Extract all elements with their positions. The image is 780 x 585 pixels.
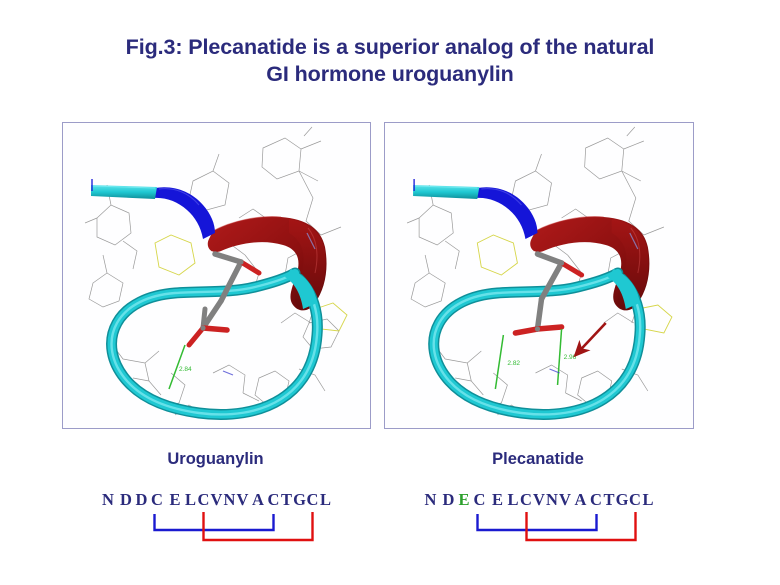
residue-D: D [117, 490, 135, 510]
sequence-letters-uroguanylin: NDDCELCVNVACTGCL [62, 490, 369, 510]
residue-L: L [319, 490, 332, 510]
sequence-block-plecanatide: NDECELCVNVACTGCL [384, 490, 692, 556]
residue-C: C [306, 490, 319, 510]
residue-G: G [616, 490, 629, 510]
structure-panel-uroguanylin: 2.84 [62, 122, 371, 429]
figure-title-line-2: GI hormone uroguanylin [0, 61, 780, 88]
residue-L: L [642, 490, 655, 510]
residue-E: E [458, 490, 471, 510]
hbond-label-2: 2.96 [564, 354, 577, 361]
molecule-render-uroguanylin: 2.84 [63, 123, 370, 428]
residue-N: N [422, 490, 440, 510]
disulfide-bond-diagram-uroguanylin [99, 510, 332, 556]
disulfide-bracket-2 [526, 512, 635, 540]
residue-E: E [489, 490, 507, 510]
residue-T: T [603, 490, 616, 510]
figure-root: Fig.3: Plecanatide is a superior analog … [0, 0, 780, 585]
disulfide-bracket-1 [155, 514, 274, 530]
figure-title: Fig.3: Plecanatide is a superior analog … [0, 34, 780, 88]
residue-C: C [267, 490, 280, 510]
residue-A: A [249, 490, 267, 510]
residue-T: T [280, 490, 293, 510]
hbond-label-1: 2.82 [507, 360, 520, 367]
residue-C: C [520, 490, 533, 510]
residue-L: L [184, 490, 197, 510]
residue-A: A [572, 490, 590, 510]
hbond-label-1: 2.84 [179, 366, 192, 373]
structure-panel-plecanatide: 2.82 2.96 [384, 122, 694, 429]
residue-E: E [166, 490, 184, 510]
residue-V: V [559, 490, 572, 510]
residue-V: V [210, 490, 223, 510]
residue-G: G [293, 490, 306, 510]
disulfide-bond-diagram-plecanatide [422, 510, 655, 556]
residue-D: D [440, 490, 458, 510]
figure-title-line-1: Fig.3: Plecanatide is a superior analog … [126, 35, 655, 59]
residue-N: N [223, 490, 236, 510]
residue-V: V [236, 490, 249, 510]
panel-caption-plecanatide: Plecanatide [384, 450, 692, 469]
disulfide-bracket-1 [477, 514, 596, 530]
residue-C: C [148, 490, 166, 510]
residue-C: C [197, 490, 210, 510]
disulfide-bracket-2 [204, 512, 313, 540]
residue-L: L [507, 490, 520, 510]
residue-N: N [546, 490, 559, 510]
residue-V: V [533, 490, 546, 510]
residue-D: D [135, 490, 148, 510]
residue-C: C [471, 490, 489, 510]
residue-N: N [99, 490, 117, 510]
sequence-letters-plecanatide: NDECELCVNVACTGCL [384, 490, 692, 510]
sequence-block-uroguanylin: NDDCELCVNVACTGCL [62, 490, 369, 556]
residue-C: C [629, 490, 642, 510]
panel-caption-uroguanylin: Uroguanylin [62, 450, 369, 469]
residue-C: C [590, 490, 603, 510]
molecule-render-plecanatide: 2.82 2.96 [385, 123, 693, 428]
